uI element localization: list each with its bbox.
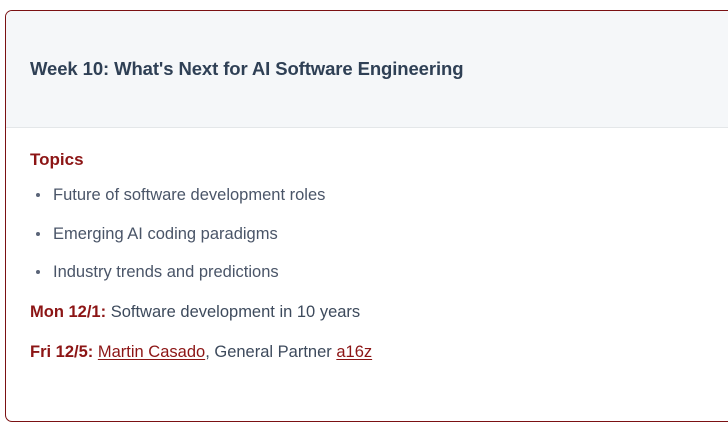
list-item: Future of software development roles bbox=[30, 184, 728, 206]
topics-list: Future of software development roles Eme… bbox=[30, 184, 728, 283]
bullet-icon bbox=[36, 270, 40, 274]
schedule-entry-mon: Mon 12/1: Software development in 10 yea… bbox=[30, 301, 728, 323]
card-body: Topics Future of software development ro… bbox=[6, 128, 728, 364]
list-item-label: Future of software development roles bbox=[53, 186, 325, 204]
firm-link[interactable]: a16z bbox=[336, 343, 372, 361]
page-title: Week 10: What's Next for AI Software Eng… bbox=[30, 57, 463, 81]
bullet-icon bbox=[36, 193, 40, 197]
speaker-link[interactable]: Martin Casado bbox=[98, 343, 205, 361]
list-item: Industry trends and predictions bbox=[30, 261, 728, 283]
list-item-label: Industry trends and predictions bbox=[53, 263, 279, 281]
list-item-label: Emerging AI coding paradigms bbox=[53, 225, 278, 243]
list-item: Emerging AI coding paradigms bbox=[30, 223, 728, 245]
schedule-date-label: Fri 12/5: bbox=[30, 343, 93, 361]
schedule-entry-fri: Fri 12/5: Martin Casado, General Partner… bbox=[30, 341, 728, 363]
card-header: Week 10: What's Next for AI Software Eng… bbox=[6, 11, 728, 128]
session-card: Week 10: What's Next for AI Software Eng… bbox=[5, 10, 728, 422]
schedule-date-label: Mon 12/1: bbox=[30, 303, 106, 321]
page-root: Week 10: What's Next for AI Software Eng… bbox=[0, 0, 728, 431]
schedule-detail-text: Software development in 10 years bbox=[106, 303, 360, 321]
topics-heading: Topics bbox=[30, 150, 728, 170]
speaker-title-text: , General Partner bbox=[205, 343, 336, 361]
bullet-icon bbox=[36, 232, 40, 236]
